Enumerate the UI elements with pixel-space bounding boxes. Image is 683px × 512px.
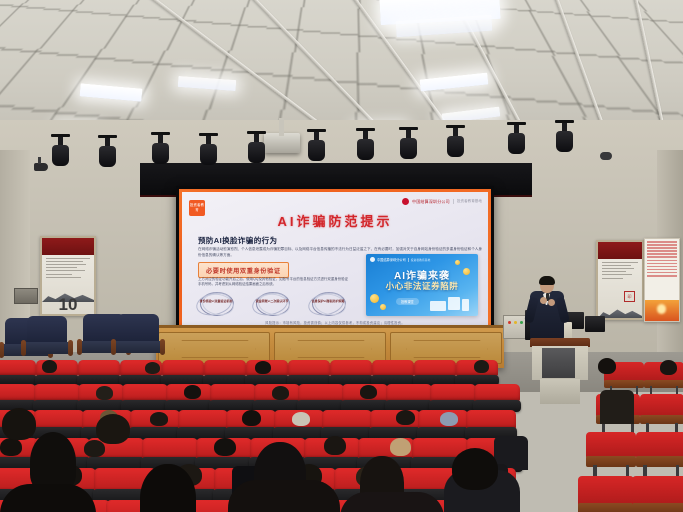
slide-circle-diagram-group: 身份核验\n双重验证机制 资金转账\n二次确认环节 信息保护\n隐私防护策略 — [196, 292, 348, 316]
projector-mount — [279, 118, 284, 136]
slide-highlight-tag: 必要时使用双重身份验证 — [198, 262, 289, 278]
audience-head — [184, 385, 201, 399]
spotlight-icon — [152, 143, 169, 164]
poster-header-band — [42, 238, 94, 255]
poster-big-number: 10 — [42, 296, 94, 313]
audience-head — [145, 362, 160, 374]
spotlight-icon — [508, 133, 525, 154]
seat — [162, 360, 204, 386]
audience-head — [0, 438, 22, 456]
audience-head — [396, 410, 415, 425]
promo-logo-icon — [370, 257, 375, 262]
aisle-side-chair — [640, 394, 683, 436]
audience-head — [42, 360, 57, 373]
brand-logo-icon — [402, 198, 409, 205]
audience-head-foreground — [96, 414, 130, 444]
spotlight-icon — [52, 145, 69, 166]
wall-control-panel[interactable] — [503, 315, 527, 339]
auditorium-photo: 投资者教育 中国结算深圳分公司 投资者教育基地 AI诈骗防范提示 预防AI换脸诈… — [0, 0, 683, 512]
aisle-side-chair — [632, 476, 683, 512]
audience-head — [84, 440, 105, 457]
indicator-yellow — [514, 321, 517, 324]
spotlight-icon — [99, 146, 116, 167]
spotlight-icon — [556, 131, 573, 152]
monitor-icon — [448, 297, 460, 310]
promo-brand-text: 中国结算深圳分公司 — [377, 257, 406, 262]
seat — [298, 384, 344, 412]
promo-brand-sub: 投资者教育基地 — [408, 258, 431, 262]
slide-brand-sub: 投资者教育基地 — [453, 199, 482, 204]
wall-poster-left: 10 — [40, 236, 96, 316]
audience-head — [440, 412, 458, 426]
audience-person — [600, 390, 634, 424]
audience-head-foreground — [452, 448, 498, 490]
audience-head — [324, 436, 346, 455]
spotlight-icon — [200, 144, 217, 165]
seat — [34, 384, 80, 412]
spotlight-icon — [357, 139, 374, 160]
audience-head — [390, 438, 411, 456]
slide-content: 投资者教育 中国结算深圳分公司 投资者教育基地 AI诈骗防范提示 预防AI换脸诈… — [182, 192, 488, 328]
phone-icon — [462, 299, 469, 311]
audience-head-foreground — [2, 408, 36, 440]
slide-title: AI诈骗防范提示 — [182, 211, 488, 230]
circle-label: 身份核验\n双重验证机制 — [196, 299, 236, 303]
aisle-side-chair — [586, 432, 636, 480]
seat — [204, 360, 246, 386]
seat — [210, 384, 256, 412]
seat — [474, 384, 520, 412]
audience-head — [292, 412, 310, 426]
audience-head — [255, 361, 271, 374]
circle-label: 信息保护\n隐私防护策略 — [308, 299, 348, 303]
circle-badge: 身份核验\n双重验证机制 — [196, 292, 236, 316]
audience-head-foreground — [30, 432, 76, 492]
spotlight-icon — [248, 142, 265, 163]
poster-header-band — [598, 242, 642, 259]
slide-heading: 预防AI换脸诈骗的行为 — [198, 235, 277, 246]
coin-icon — [370, 294, 379, 303]
promo-headline-2: 小心非法证券陷阱 — [366, 280, 478, 292]
aisle-side-chair — [578, 476, 634, 512]
display-monitor — [585, 316, 605, 332]
projection-screen: 投资者教育 中国结算深圳分公司 投资者教育基地 AI诈骗防范提示 预防AI换脸诈… — [176, 186, 494, 334]
audience-head — [96, 386, 113, 400]
wall-utility-box — [14, 288, 38, 304]
projector-icon — [264, 133, 300, 153]
laptop-icon — [430, 301, 446, 311]
seat — [122, 384, 168, 412]
calendar-sunset-image — [645, 300, 679, 321]
audience-head — [242, 410, 261, 426]
audience-head — [360, 385, 377, 399]
seat — [288, 360, 330, 386]
slide-brand-text: 中国结算深圳分公司 — [412, 199, 450, 205]
audience-head — [474, 360, 489, 373]
seat — [386, 384, 432, 412]
seat — [178, 410, 228, 441]
speaker-at-podium — [527, 277, 567, 339]
seat — [430, 384, 476, 412]
poster-text-lines — [598, 259, 642, 284]
audience-head — [272, 386, 289, 400]
aisle-side-chair — [636, 432, 683, 480]
seat — [372, 360, 414, 386]
promo-tag: 投教课堂 — [396, 298, 419, 305]
poster-text-lines — [42, 255, 94, 283]
speaker-hand — [548, 299, 555, 306]
seat — [330, 360, 372, 386]
security-camera-icon — [34, 163, 48, 171]
seat — [414, 360, 456, 386]
wall-poster-right: 印 — [596, 240, 644, 320]
wall-calendar-poster — [644, 238, 680, 322]
spotlight-icon — [308, 140, 325, 161]
circle-badge: 资金转账\n二次确认环节 — [252, 292, 292, 316]
audience-person-foreground — [0, 484, 96, 512]
coin-icon — [380, 304, 386, 310]
security-camera-icon — [600, 152, 612, 160]
speaker-hair — [539, 276, 555, 285]
audience-head — [660, 360, 677, 375]
circle-badge: 信息保护\n隐私防护策略 — [308, 292, 348, 316]
promo-card: 中国结算深圳分公司 投资者教育基地 AI诈骗来袭 小心非法证券陷阱 投教课堂 — [366, 254, 478, 316]
seat — [78, 360, 120, 386]
seat — [0, 360, 36, 386]
circle-label: 资金转账\n二次确认环节 — [252, 299, 292, 303]
audience-head — [598, 358, 616, 374]
device-illustration — [428, 292, 472, 314]
audience-head — [150, 412, 168, 426]
audience-seating — [0, 352, 683, 512]
slide-brand: 中国结算深圳分公司 投资者教育基地 — [402, 198, 482, 205]
indicator-green — [520, 321, 523, 324]
audience-head — [214, 438, 236, 456]
poster-seal-icon: 印 — [624, 291, 635, 302]
calendar-rows — [645, 239, 679, 277]
coin-icon — [463, 268, 470, 275]
spotlight-icon — [447, 136, 464, 157]
coin-icon — [455, 260, 460, 265]
audience-person-foreground — [228, 480, 340, 512]
slide-frame: 投资者教育 中国结算深圳分公司 投资者教育基地 AI诈骗防范提示 预防AI换脸诈… — [179, 189, 491, 331]
indicator-red — [508, 321, 511, 324]
slide-paragraph-2: 上方对应的验证功能开启之后，使用QQ及其他验证，如账号平台的信息验证方式进行双重… — [198, 277, 348, 288]
speaker-hand — [540, 297, 547, 304]
spotlight-icon — [400, 138, 417, 159]
audience-person-foreground — [340, 492, 444, 512]
